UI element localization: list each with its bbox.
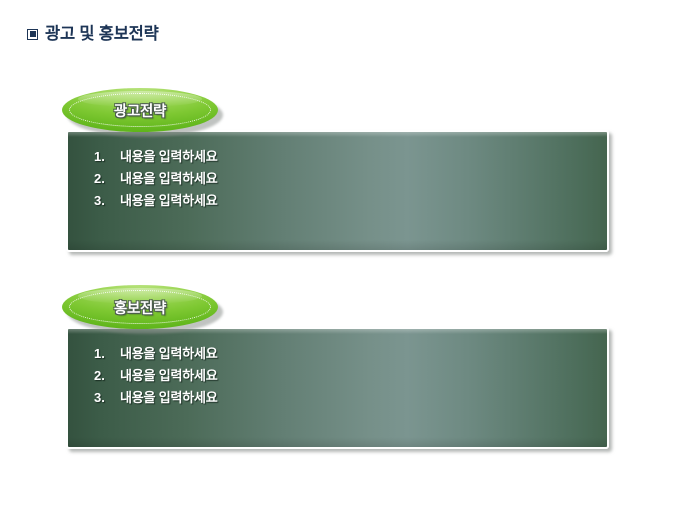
list-item-number: 3. <box>94 190 120 212</box>
list-item-number: 1. <box>94 343 120 365</box>
list-item-label: 내용을 입력하세요 <box>120 343 218 365</box>
list-item[interactable]: 3. 내용을 입력하세요 <box>94 190 218 212</box>
section-label-badge[interactable]: 홍보전략 <box>62 285 218 331</box>
numbered-list: 1. 내용을 입력하세요 2. 내용을 입력하세요 3. 내용을 입력하세요 <box>94 146 218 212</box>
list-item[interactable]: 3. 내용을 입력하세요 <box>94 387 218 409</box>
list-item[interactable]: 1. 내용을 입력하세요 <box>94 343 218 365</box>
list-item-number: 1. <box>94 146 120 168</box>
list-item-number: 2. <box>94 168 120 190</box>
page-title: 광고 및 홍보전략 <box>27 26 159 43</box>
page-title-text: 광고 및 홍보전략 <box>45 26 159 43</box>
badge-label: 광고전략 <box>62 88 218 134</box>
list-item[interactable]: 1. 내용을 입력하세요 <box>94 146 218 168</box>
numbered-list: 1. 내용을 입력하세요 2. 내용을 입력하세요 3. 내용을 입력하세요 <box>94 343 218 409</box>
list-item-number: 2. <box>94 365 120 387</box>
list-item-number: 3. <box>94 387 120 409</box>
list-item-label: 내용을 입력하세요 <box>120 146 218 168</box>
list-item[interactable]: 2. 내용을 입력하세요 <box>94 365 218 387</box>
section-label-badge[interactable]: 광고전략 <box>62 88 218 134</box>
list-item[interactable]: 2. 내용을 입력하세요 <box>94 168 218 190</box>
list-item-label: 내용을 입력하세요 <box>120 190 218 212</box>
content-box[interactable]: 1. 내용을 입력하세요 2. 내용을 입력하세요 3. 내용을 입력하세요 <box>66 327 609 449</box>
list-item-label: 내용을 입력하세요 <box>120 365 218 387</box>
content-box[interactable]: 1. 내용을 입력하세요 2. 내용을 입력하세요 3. 내용을 입력하세요 <box>66 130 609 252</box>
list-item-label: 내용을 입력하세요 <box>120 168 218 190</box>
list-item-label: 내용을 입력하세요 <box>120 387 218 409</box>
filled-square-bullet-icon <box>27 29 38 40</box>
badge-label: 홍보전략 <box>62 285 218 331</box>
